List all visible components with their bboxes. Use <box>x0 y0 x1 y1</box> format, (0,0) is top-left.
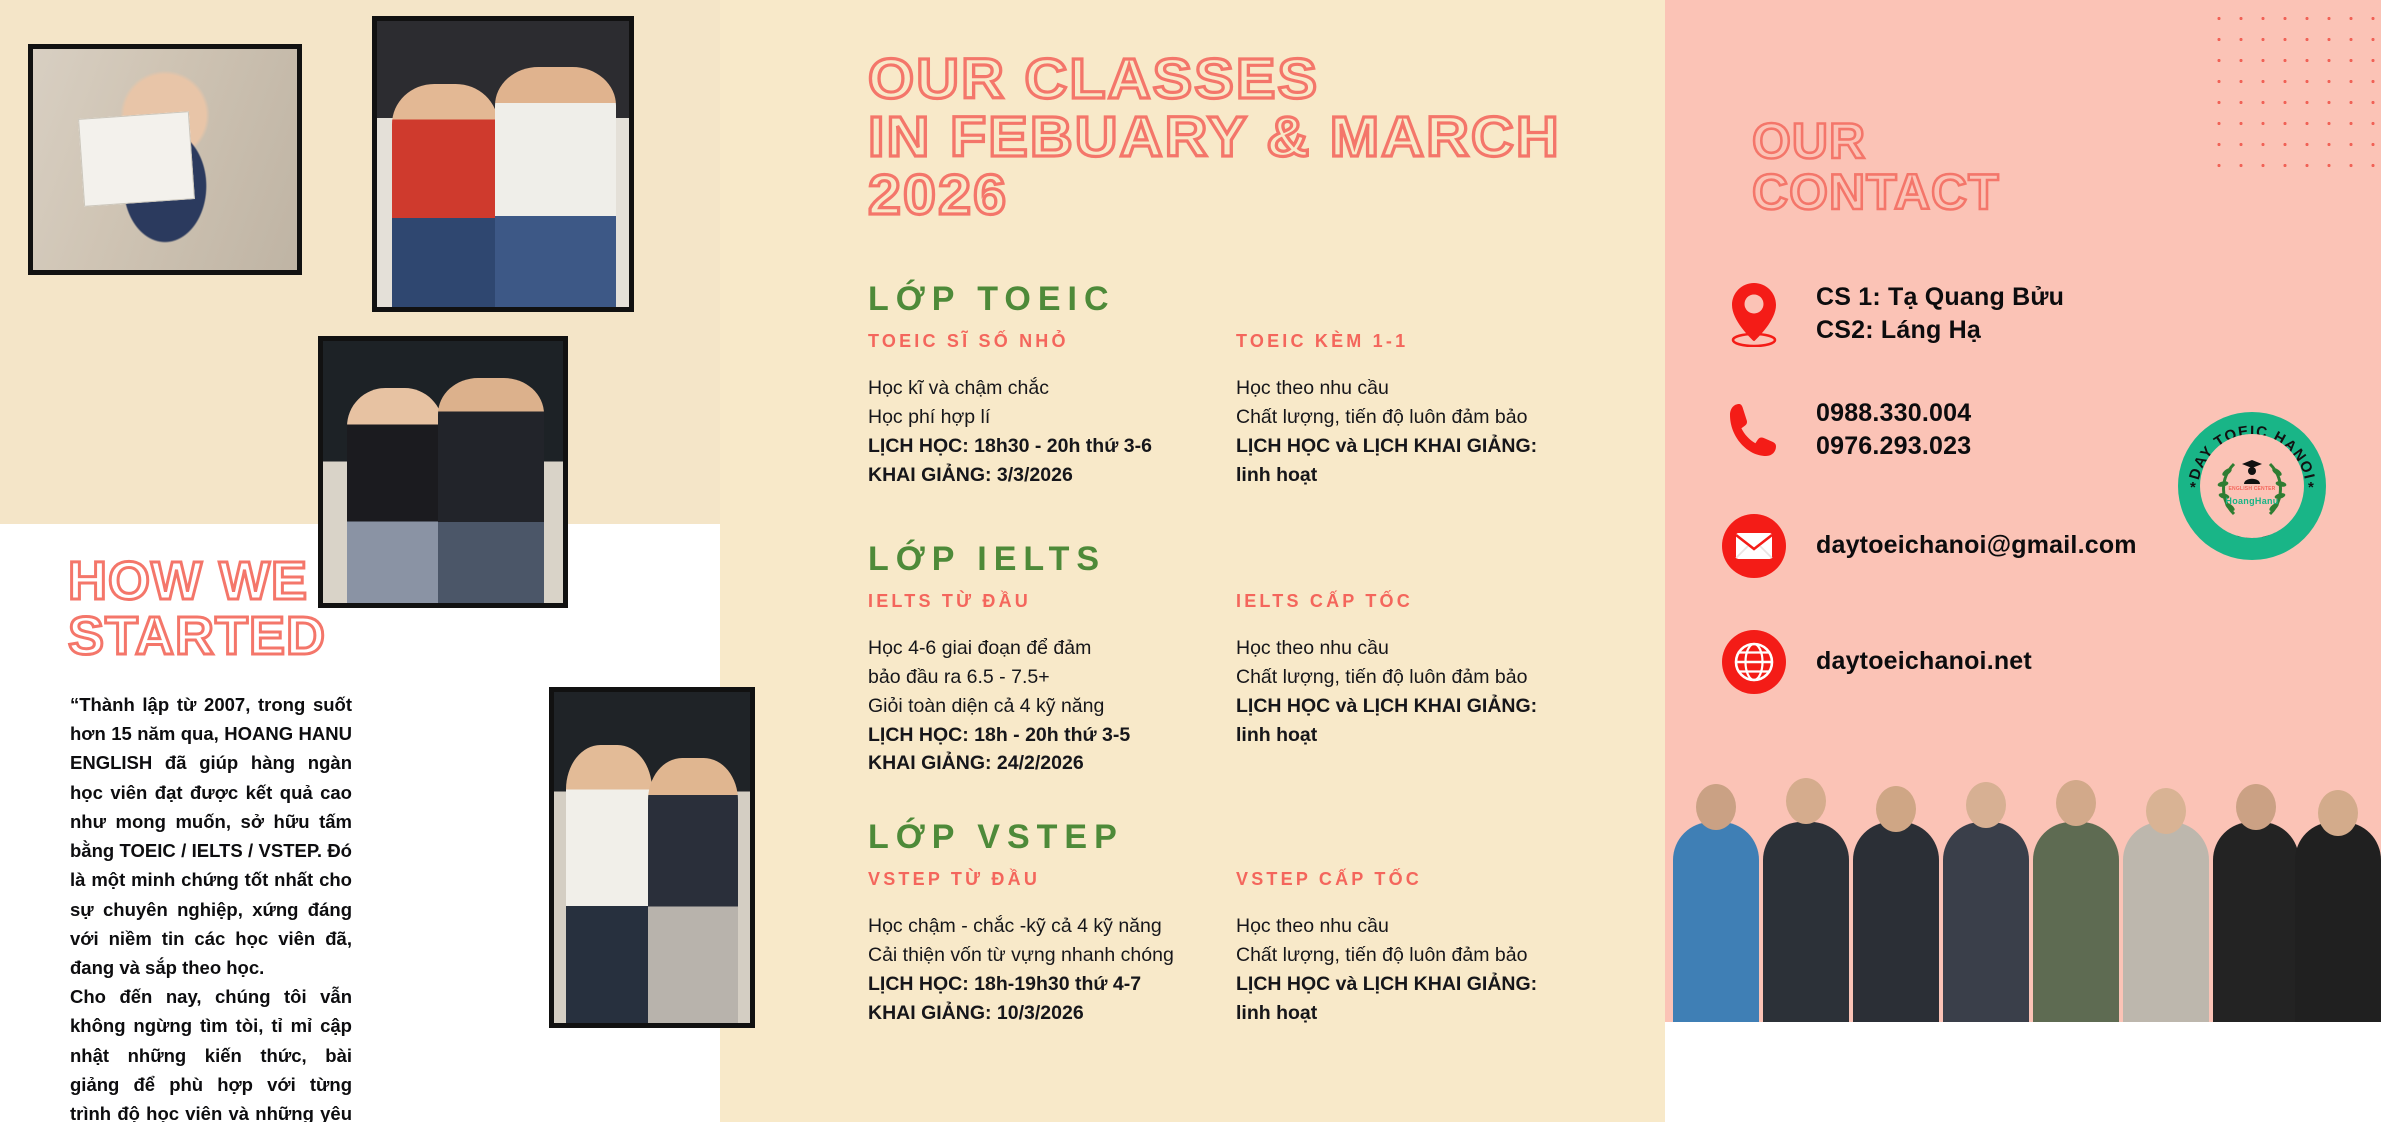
class-detail-line: Học kĩ và chậm chắc <box>868 374 1236 403</box>
contact-section-title: OUR CONTACT <box>1752 116 2000 218</box>
class-schedule-line-cont: linh hoạt <box>1236 721 1604 750</box>
class-block-vstep: LỚP VSTEP VSTEP TỪ ĐẦU Học chậm - chắc -… <box>868 818 1604 1027</box>
class-column-vstep-intensive: VSTEP CẤP TỐC Học theo nhu cầu Chất lượn… <box>1236 869 1604 1027</box>
poster-canvas: OUR CLASSES IN FEBUARY & MARCH 2026 LỚP … <box>0 0 2381 1122</box>
contact-row-address[interactable]: CS 1: Tạ Quang Bửu CS2: Láng Hạ <box>1718 278 2318 350</box>
classes-section-title: OUR CLASSES IN FEBUARY & MARCH 2026 <box>868 50 1561 224</box>
contact-address-text: CS 1: Tạ Quang Bửu CS2: Láng Hạ <box>1816 281 2064 348</box>
team-member <box>1763 774 1849 1022</box>
globe-icon <box>1718 626 1790 698</box>
class-schedule-line-cont: linh hoạt <box>1236 461 1604 490</box>
class-detail-line: bảo đầu ra 6.5 - 7.5+ <box>868 663 1236 692</box>
class-schedule-line: LỊCH HỌC: 18h - 20h thứ 3-5 <box>868 721 1236 750</box>
class-schedule-line: LỊCH HỌC: 18h30 - 20h thứ 3-6 <box>868 432 1236 461</box>
class-detail-line: Chất lượng, tiến độ luôn đảm bảo <box>1236 403 1604 432</box>
logo-badge-center-sub: ENGLISH CENTER <box>2200 486 2304 492</box>
class-block-ielts: LỚP IELTS IELTS TỪ ĐẦU Học 4-6 giai đoạn… <box>868 540 1604 778</box>
classes-title-line-3: 2026 <box>868 166 1561 224</box>
dot-pattern-decoration <box>2208 8 2381 168</box>
logo-badge-day-toeic-hanoi: DAY TOEIC HANOI SINCE 2007 * * <box>2178 412 2326 560</box>
globe-icon-circle <box>1722 630 1786 694</box>
team-member <box>1673 774 1759 1022</box>
class-detail-line: Học phí hợp lí <box>868 403 1236 432</box>
class-column-ielts-beginner: IELTS TỪ ĐẦU Học 4-6 giai đoạn để đảm bả… <box>868 591 1236 778</box>
contact-email-value: daytoeichanoi@gmail.com <box>1816 529 2137 563</box>
class-subheading: VSTEP TỪ ĐẦU <box>868 869 1236 890</box>
photo-student-certificate <box>28 44 302 275</box>
class-column-toeic-1to1: TOEIC KÈM 1-1 Học theo nhu cầu Chất lượn… <box>1236 331 1604 489</box>
class-heading-vstep: LỚP VSTEP <box>868 818 1604 857</box>
contact-address-line-2: CS2: Láng Hạ <box>1816 314 2064 348</box>
contact-website-value: daytoeichanoi.net <box>1816 645 2032 679</box>
contact-title-line-2: CONTACT <box>1752 167 2000 218</box>
class-detail-line: Học theo nhu cầu <box>1236 634 1604 663</box>
logo-badge-inner: ENGLISH CENTER HoangHanu <box>2200 434 2304 538</box>
photo-two-men-top <box>372 16 634 312</box>
class-schedule-line: LỊCH HỌC: 18h-19h30 thứ 4-7 <box>868 970 1236 999</box>
class-column-vstep-beginner: VSTEP TỪ ĐẦU Học chậm - chắc -kỹ cả 4 kỹ… <box>868 869 1236 1027</box>
class-subheading: VSTEP CẤP TỐC <box>1236 869 1604 890</box>
class-subheading: IELTS CẤP TỐC <box>1236 591 1604 612</box>
story-section-title: HOW WE STARTED <box>68 554 326 664</box>
class-detail-line: Học chậm - chắc -kỹ cả 4 kỹ năng <box>868 912 1236 941</box>
logo-badge-star-right: * <box>2308 479 2315 496</box>
class-detail-line: Học 4-6 giai đoạn để đảm <box>868 634 1236 663</box>
photo-girl-man-classroom <box>318 336 568 608</box>
class-detail-line: Giỏi toàn diện cả 4 kỹ năng <box>868 692 1236 721</box>
class-opening-line: KHAI GIẢNG: 24/2/2026 <box>868 749 1236 778</box>
contact-row-website[interactable]: daytoeichanoi.net <box>1718 626 2318 698</box>
story-title-line-1: HOW WE <box>68 554 326 609</box>
team-member <box>1853 774 1939 1022</box>
class-heading-ielts: LỚP IELTS <box>868 540 1604 579</box>
class-opening-line: KHAI GIẢNG: 3/3/2026 <box>868 461 1236 490</box>
photo-two-students-bottom <box>549 687 755 1028</box>
contact-phone-line-2: 0976.293.023 <box>1816 430 1971 464</box>
background-band-white-bottom-right <box>1665 1022 2381 1122</box>
class-schedule-line: LỊCH HỌC và LỊCH KHAI GIẢNG: <box>1236 970 1604 999</box>
class-opening-line: KHAI GIẢNG: 10/3/2026 <box>868 999 1236 1028</box>
class-detail-line: Chất lượng, tiến độ luôn đảm bảo <box>1236 941 1604 970</box>
class-subheading: TOEIC KÈM 1-1 <box>1236 331 1604 352</box>
phone-icon <box>1718 394 1790 466</box>
team-member <box>1943 774 2029 1022</box>
class-detail-line: Học theo nhu cầu <box>1236 374 1604 403</box>
classes-title-line-1: OUR CLASSES <box>868 50 1561 108</box>
class-subheading: IELTS TỪ ĐẦU <box>868 591 1236 612</box>
class-schedule-line: LỊCH HỌC và LỊCH KHAI GIẢNG: <box>1236 692 1604 721</box>
class-block-toeic: LỚP TOEIC TOEIC SĨ SỐ NHỎ Học kĩ và chậm… <box>868 280 1604 489</box>
class-heading-toeic: LỚP TOEIC <box>868 280 1604 319</box>
class-column-ielts-intensive: IELTS CẤP TỐC Học theo nhu cầu Chất lượn… <box>1236 591 1604 778</box>
class-schedule-line: LỊCH HỌC và LỊCH KHAI GIẢNG: <box>1236 432 1604 461</box>
class-detail-line: Học theo nhu cầu <box>1236 912 1604 941</box>
class-subheading: TOEIC SĨ SỐ NHỎ <box>868 331 1236 352</box>
contact-title-line-1: OUR <box>1752 116 2000 167</box>
classes-title-line-2: IN FEBUARY & MARCH <box>868 108 1561 166</box>
class-column-toeic-small: TOEIC SĨ SỐ NHỎ Học kĩ và chậm chắc Học … <box>868 331 1236 489</box>
story-paragraph-1: “Thành lập từ 2007, trong suốt hơn 15 nă… <box>70 690 352 982</box>
envelope-icon-circle <box>1722 514 1786 578</box>
class-detail-line: Cải thiện vốn từ vựng nhanh chóng <box>868 941 1236 970</box>
team-member <box>2033 774 2119 1022</box>
logo-badge-center-name: HoangHanu <box>2200 496 2304 506</box>
story-title-line-2: STARTED <box>68 609 326 664</box>
logo-badge-star-left: * <box>2190 479 2197 496</box>
contact-address-line-1: CS 1: Tạ Quang Bửu <box>1816 281 2064 315</box>
class-schedule-line-cont: linh hoạt <box>1236 999 1604 1028</box>
contact-email-text: daytoeichanoi@gmail.com <box>1816 529 2137 563</box>
story-paragraph-2: Cho đến nay, chúng tôi vẫn không ngừng t… <box>70 982 352 1122</box>
team-member <box>2295 774 2381 1022</box>
photo-team-group <box>1665 700 2381 1022</box>
team-member <box>2123 774 2209 1022</box>
class-detail-line: Chất lượng, tiến độ luôn đảm bảo <box>1236 663 1604 692</box>
contact-phone-text: 0988.330.004 0976.293.023 <box>1816 397 1971 464</box>
envelope-icon <box>1718 510 1790 582</box>
location-pin-icon <box>1718 278 1790 350</box>
team-member <box>2213 774 2299 1022</box>
story-paragraph: “Thành lập từ 2007, trong suốt hơn 15 nă… <box>70 690 352 1122</box>
contact-phone-line-1: 0988.330.004 <box>1816 397 1971 431</box>
